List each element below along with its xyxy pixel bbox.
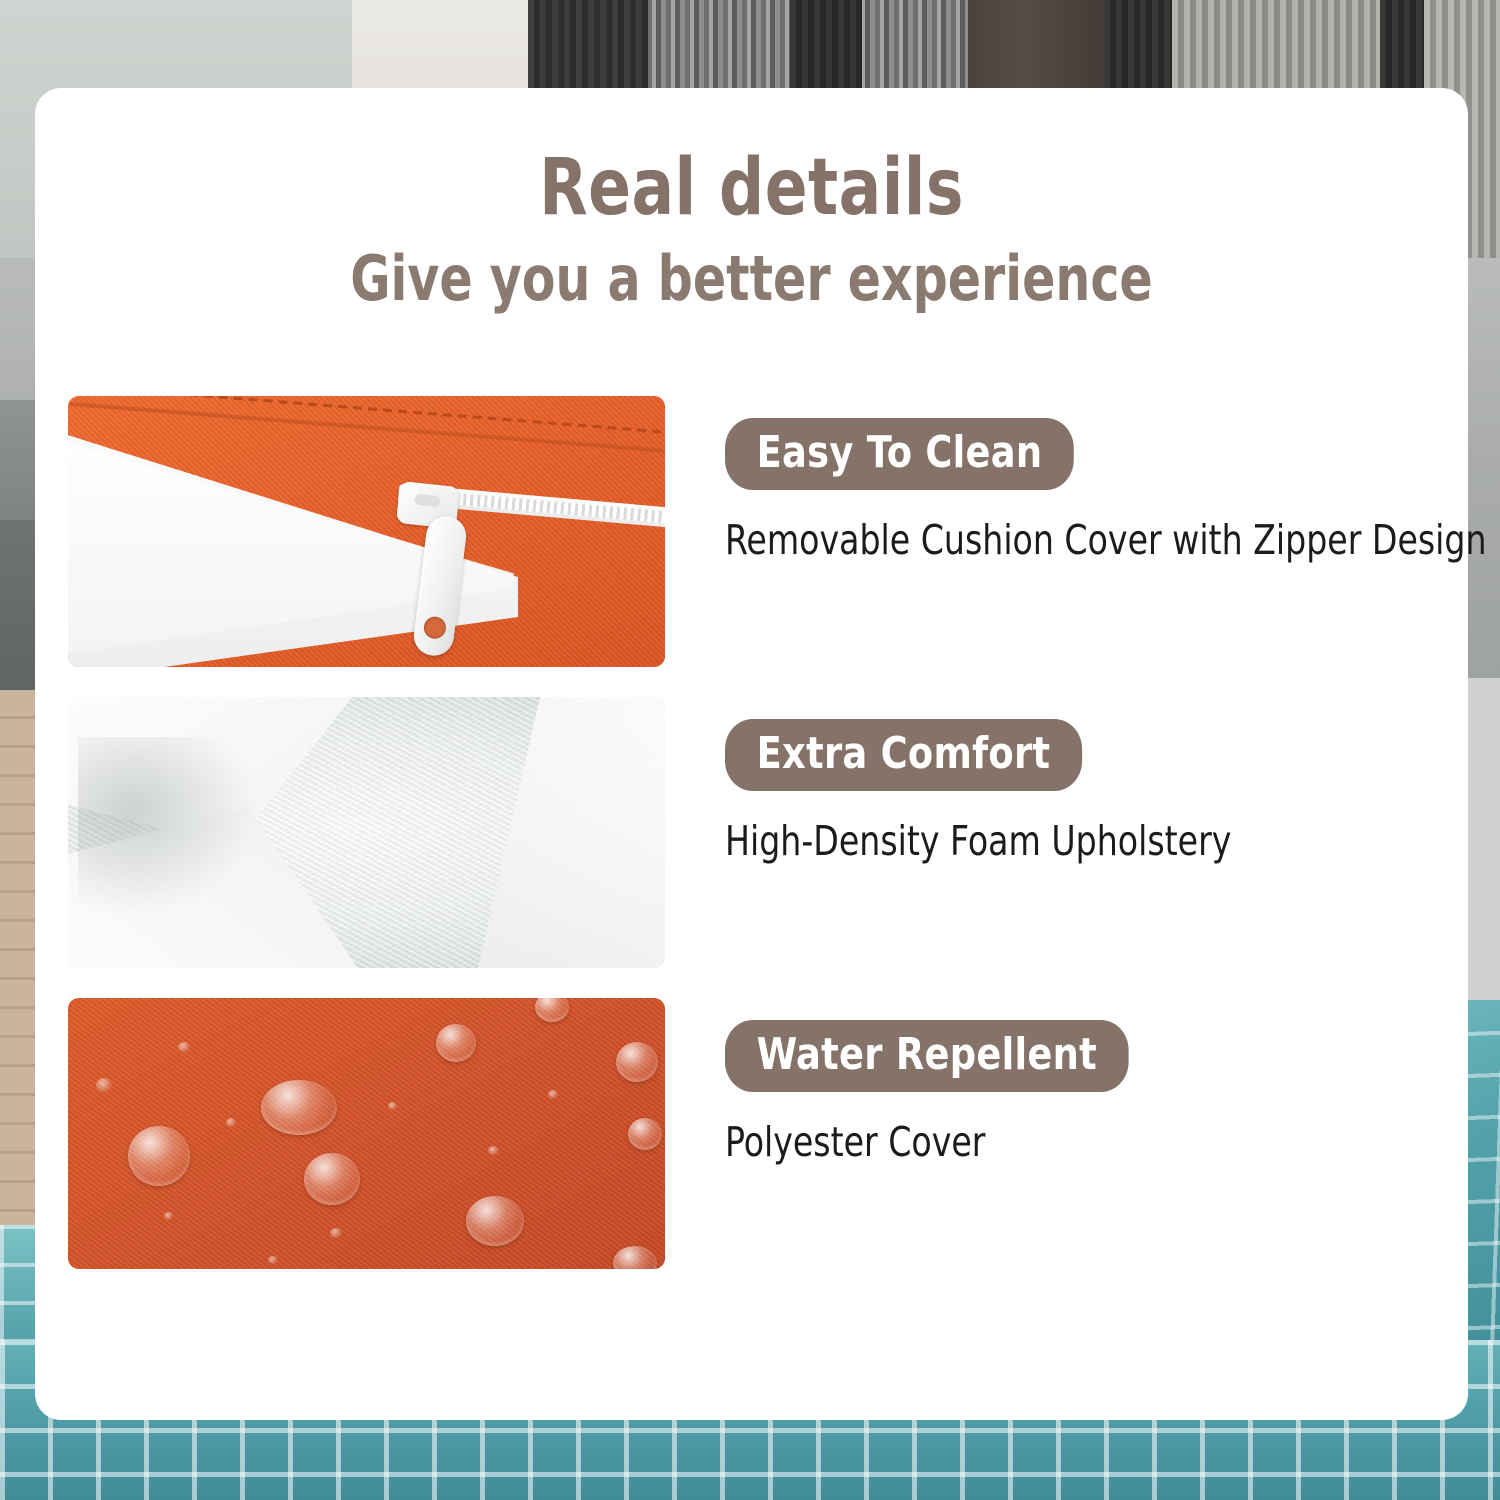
water-droplet-icon [304, 1153, 360, 1205]
feature-description: High-Density Foam Upholstery [725, 817, 1394, 865]
header-block: Real details Give you a better experienc… [35, 88, 1468, 311]
water-droplet-icon [128, 1126, 190, 1186]
feature-image-foam [68, 697, 665, 968]
water-droplet-icon [628, 1118, 662, 1150]
feature-badge: Extra Comfort [725, 719, 1082, 791]
page-subtitle: Give you a better experience [121, 246, 1382, 311]
feature-row: Easy To Clean Removable Cushion Cover wi… [68, 396, 1468, 667]
feature-description: Polyester Cover [725, 1118, 1394, 1166]
feature-badge: Water Repellent [725, 1020, 1129, 1092]
water-mist [96, 1078, 112, 1092]
feature-image-zipper [68, 396, 665, 667]
foam-shadow [78, 737, 258, 917]
water-droplet-icon [466, 1196, 524, 1246]
water-mist [164, 1212, 173, 1220]
page-title: Real details [107, 148, 1397, 230]
feature-text-block: Water Repellent Polyester Cover [665, 998, 1468, 1269]
zipper-slider-slot [414, 494, 441, 508]
water-droplet-icon [616, 1042, 658, 1082]
feature-image-water [68, 998, 665, 1269]
feature-list: Easy To Clean Removable Cushion Cover wi… [68, 396, 1468, 1299]
feature-row: Water Repellent Polyester Cover [68, 998, 1468, 1269]
water-droplet-icon [261, 1080, 337, 1135]
water-mist [226, 1118, 236, 1127]
water-mist [388, 1102, 397, 1110]
feature-description: Removable Cushion Cover with Zipper Desi… [725, 516, 1487, 564]
zipper-pull-hole [423, 615, 448, 640]
feature-row: Extra Comfort High-Density Foam Upholste… [68, 697, 1468, 968]
water-mist [178, 1042, 190, 1052]
info-card: Real details Give you a better experienc… [35, 88, 1468, 1420]
water-mist [330, 1228, 342, 1238]
water-droplet-icon [436, 1024, 476, 1062]
feature-text-block: Easy To Clean Removable Cushion Cover wi… [665, 396, 1500, 667]
feature-badge: Easy To Clean [725, 418, 1074, 490]
water-mist [488, 1146, 499, 1155]
water-mist [548, 1090, 558, 1099]
feature-text-block: Extra Comfort High-Density Foam Upholste… [665, 697, 1468, 968]
water-mist [268, 1256, 278, 1264]
